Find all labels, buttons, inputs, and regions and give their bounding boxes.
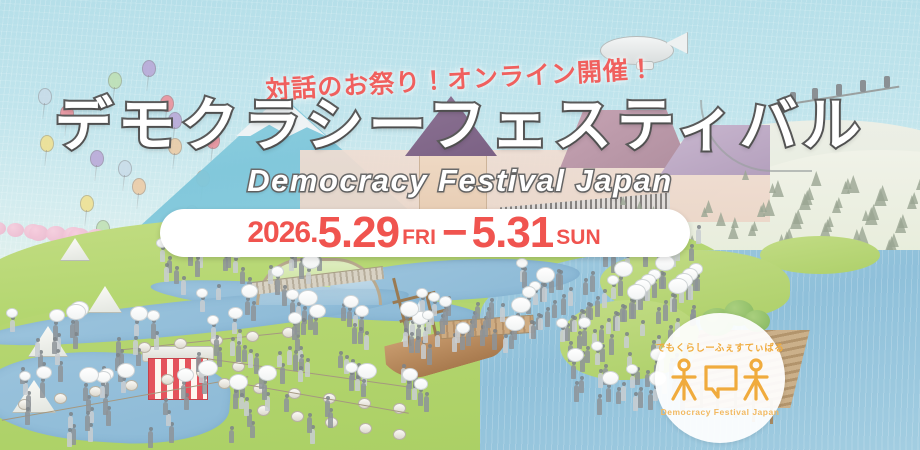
crowd-figure	[325, 400, 330, 417]
crowd-figure	[595, 300, 600, 317]
crowd-figure	[561, 298, 566, 315]
crowd-figure	[236, 345, 241, 362]
crowd-figure	[245, 301, 250, 315]
crowd-figure	[347, 311, 352, 327]
crowd-figure	[606, 322, 611, 334]
speech-bubble	[196, 288, 208, 298]
crowd-figure	[277, 355, 282, 367]
lantern	[246, 331, 259, 342]
crowd-figure	[406, 384, 411, 400]
crowd-figure	[503, 338, 508, 353]
speech-bubble	[286, 289, 299, 300]
date-start: 5.29	[317, 211, 399, 255]
crowd-figure	[663, 304, 668, 321]
crowd-figure	[40, 382, 45, 398]
crowd-figure	[602, 293, 607, 308]
crowd-figure	[195, 260, 200, 277]
crowd-figure	[427, 348, 432, 365]
speech-bubble	[177, 368, 194, 382]
speech-bubble	[117, 363, 135, 378]
crowd-figure	[242, 349, 247, 362]
speech-bubble	[258, 365, 277, 381]
crowd-figure	[531, 325, 536, 339]
zipline-rider	[860, 80, 866, 92]
crowd-figure	[618, 280, 623, 296]
crowd-figure	[184, 397, 189, 410]
crowd-figure	[545, 311, 550, 327]
crowd-figure	[622, 309, 627, 322]
crowd-figure	[306, 272, 311, 284]
crowd-figure	[571, 365, 576, 379]
crowd-figure	[688, 285, 693, 300]
speech-bubble	[309, 304, 326, 318]
crowd-figure	[538, 318, 543, 330]
date-end-dow: SUN	[553, 226, 602, 250]
crowd-figure	[579, 380, 584, 393]
speech-bubble	[130, 306, 148, 321]
crowd-figure	[230, 341, 235, 356]
crowd-figure	[560, 330, 565, 342]
page-title: デモクラシーフェスティバル	[0, 96, 920, 157]
crowd-figure	[609, 338, 614, 355]
crowd-figure	[23, 383, 28, 395]
crowd-figure	[695, 278, 700, 291]
crowd-figure	[460, 336, 465, 350]
speech-bubble	[207, 315, 219, 325]
date-banner: 2026. 5.29 FRI − 5.31 SUN	[160, 209, 690, 257]
speech-bubble	[439, 296, 452, 307]
crowd-figure	[638, 391, 643, 408]
page-subtitle: Democracy Festival Japan	[0, 163, 920, 199]
speech-bubble	[355, 305, 369, 317]
speech-bubble	[627, 284, 646, 300]
lantern	[54, 393, 67, 404]
speech-bubble	[428, 292, 440, 302]
lantern	[161, 374, 174, 385]
lantern	[393, 429, 406, 440]
speech-bubble	[19, 371, 31, 381]
lantern	[125, 380, 138, 391]
speech-bubble	[271, 266, 284, 277]
crowd-figure	[85, 415, 90, 431]
crowd-figure	[35, 342, 40, 357]
date-end: 5.31	[472, 211, 554, 255]
crowd-figure	[597, 398, 602, 415]
festival-poster: 対話のお祭り！オンライン開催！ デモクラシーフェスティバル Democracy …	[0, 0, 920, 450]
crowd-figure	[361, 383, 366, 397]
crowd-figure	[475, 306, 480, 319]
crowd-figure	[181, 280, 186, 295]
crowd-figure	[489, 302, 494, 319]
speech-bubble	[241, 284, 258, 298]
crowd-figure	[244, 401, 249, 416]
crowd-figure	[585, 350, 590, 363]
crowd-figure	[364, 335, 369, 350]
speech-bubble	[288, 312, 302, 324]
date-range-dash: −	[438, 211, 472, 255]
speech-bubble	[416, 288, 428, 298]
speech-bubble	[567, 348, 584, 362]
crowd-figure	[164, 267, 169, 282]
speech-bubble	[536, 267, 555, 283]
crowd-figure	[10, 320, 15, 332]
crowd-figure	[661, 276, 666, 289]
speech-bubble	[456, 322, 470, 334]
crowd-figure	[631, 303, 636, 319]
crowd-figure	[174, 270, 179, 284]
crowd-figure	[100, 386, 105, 398]
crowd-figure	[313, 321, 318, 335]
crowd-figure	[200, 300, 205, 312]
crowd-figure	[151, 323, 156, 339]
crowd-figure	[355, 379, 360, 391]
crowd-figure	[280, 367, 285, 384]
balloon	[142, 60, 156, 77]
crowd-figure	[615, 316, 620, 331]
crowd-figure	[121, 381, 126, 393]
crowd-figure	[635, 371, 640, 385]
crowd-figure	[621, 386, 626, 401]
crowd-figure	[216, 288, 221, 300]
crowd-figure	[418, 392, 423, 406]
speech-bubble	[626, 364, 638, 374]
lantern	[291, 411, 304, 422]
crowd-figure	[289, 259, 294, 271]
crowd-figure	[583, 282, 588, 295]
crowd-figure	[148, 431, 153, 448]
crowd-figure	[600, 348, 605, 362]
crowd-figure	[640, 324, 645, 336]
crowd-figure	[305, 362, 310, 377]
crowd-figure	[55, 353, 60, 365]
crowd-figure	[52, 341, 57, 354]
speech-bubble	[229, 374, 248, 390]
crowd-figure	[409, 336, 414, 353]
crowd-figure	[689, 248, 694, 261]
crowd-figure	[223, 258, 228, 271]
festival-logo[interactable]: でもくらしーふぇすてぃばる Democracy Festival Japan	[655, 313, 785, 443]
speech-bubble	[147, 310, 160, 321]
crowd-figure	[424, 396, 429, 412]
crowd-figure	[301, 322, 306, 335]
crowd-figure	[166, 414, 171, 426]
crowd-figure	[307, 417, 312, 433]
crowd-figure	[133, 340, 138, 355]
logo-kana-text: でもくらしーふぇすてぃばる	[656, 340, 784, 354]
crowd-figure	[284, 398, 289, 412]
crowd-figure	[572, 320, 577, 332]
cherry-blossom	[7, 223, 24, 237]
crowd-figure	[403, 332, 408, 347]
crowd-figure	[233, 261, 238, 273]
logo-english-text: Democracy Festival Japan	[661, 407, 780, 417]
crowd-figure	[672, 298, 677, 312]
crowd-figure	[134, 324, 139, 336]
speech-bubble	[614, 261, 633, 277]
airship-gondola	[636, 61, 654, 70]
crowd-figure	[565, 327, 570, 341]
crowd-figure	[341, 307, 346, 321]
crowd-figure	[163, 402, 168, 415]
crowd-figure	[624, 336, 629, 348]
crowd-figure	[568, 291, 573, 306]
crowd-figure	[251, 305, 256, 321]
crowd-figure	[293, 354, 298, 371]
crowd-figure	[275, 279, 280, 295]
speech-bubble	[607, 275, 619, 285]
crowd-figure	[68, 416, 73, 428]
crowd-figure	[542, 287, 547, 302]
crowd-figure	[287, 350, 292, 365]
crowd-figure	[611, 287, 616, 299]
crowd-figure	[25, 411, 30, 425]
crowd-figure	[352, 327, 357, 344]
crowd-figure	[67, 432, 72, 447]
speech-bubble	[602, 371, 619, 385]
speech-bubble	[522, 286, 536, 298]
crowd-figure	[211, 327, 216, 339]
crowd-figure	[492, 333, 497, 350]
speech-bubble	[516, 258, 528, 268]
crowd-figure	[58, 365, 63, 382]
crowd-figure	[349, 375, 354, 391]
zipline-rider	[884, 76, 890, 88]
crowd-figure	[412, 388, 417, 400]
date-start-dow: FRI	[399, 226, 438, 250]
crowd-figure	[606, 388, 611, 402]
crowd-figure	[250, 425, 255, 438]
crowd-figure	[229, 430, 234, 443]
crowd-figure	[558, 274, 563, 290]
crowd-figure	[83, 387, 88, 401]
crowd-figure	[500, 307, 505, 322]
crowd-figure	[435, 335, 440, 347]
crowd-figure	[73, 336, 78, 349]
crowd-figure	[696, 229, 701, 244]
crowd-figure	[181, 385, 186, 399]
crowd-figure	[298, 370, 303, 382]
crowd-figure	[415, 340, 420, 353]
crowd-figure	[590, 275, 595, 292]
speech-bubble	[591, 341, 603, 351]
crowd-figure	[582, 330, 587, 346]
crowd-figure	[232, 322, 237, 334]
crowd-figure	[421, 344, 426, 359]
crowd-figure	[552, 304, 557, 318]
speech-bubble	[578, 317, 591, 328]
speech-bubble	[6, 308, 18, 318]
speech-bubble	[414, 378, 428, 390]
crowd-figure	[233, 393, 238, 409]
crowd-figure	[338, 355, 343, 368]
crowd-figure	[70, 324, 75, 338]
speech-bubble	[400, 301, 419, 317]
crowd-figure	[160, 250, 165, 262]
crowd-figure	[169, 426, 174, 443]
speech-bubble	[556, 318, 568, 328]
crowd-figure	[240, 271, 245, 284]
two-people-speech-bubble-icon	[668, 357, 772, 403]
date-year: 2026.	[247, 216, 317, 250]
crowd-figure	[248, 353, 253, 368]
crowd-figure	[239, 397, 244, 409]
speech-bubble	[345, 362, 358, 373]
balloon	[108, 72, 122, 89]
crowd-figure	[656, 311, 661, 324]
crowd-figure	[103, 398, 108, 415]
speech-bubble	[422, 310, 434, 320]
lantern	[359, 423, 372, 434]
crowd-figure	[214, 339, 219, 356]
crowd-figure	[358, 331, 363, 344]
